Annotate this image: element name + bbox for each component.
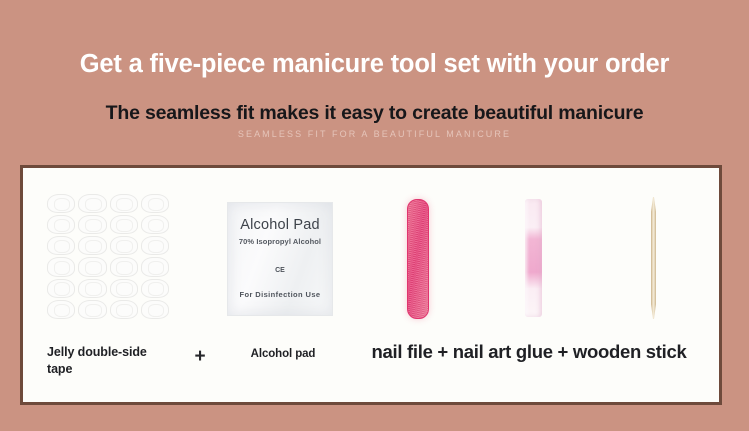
tape-tab (110, 194, 138, 213)
nail-art-glue-shape (525, 199, 542, 317)
tape-tab (110, 300, 138, 319)
tape-tab (47, 257, 75, 276)
ce-mark-icon: CE (228, 267, 332, 274)
alcohol-pad-packet-title: Alcohol Pad (228, 217, 332, 233)
wooden-stick-shape (651, 197, 656, 319)
tape-tab (47, 194, 75, 213)
tape-tab (47, 300, 75, 319)
alcohol-pad-image: Alcohol Pad 70% Isopropyl Alcohol CE For… (213, 168, 353, 336)
tape-tab (110, 215, 138, 234)
tape-tab (47, 236, 75, 255)
alcohol-pad-packet-usage: For Disinfection Use (228, 290, 332, 299)
subheadline: The seamless fit makes it easy to create… (0, 103, 749, 124)
product-images-row: Alcohol Pad 70% Isopropyl Alcohol CE For… (23, 168, 719, 336)
nail-art-glue-image (483, 168, 583, 336)
product-panel-inner: Alcohol Pad 70% Isopropyl Alcohol CE For… (23, 168, 719, 402)
tape-tab (141, 236, 169, 255)
caption-tools-list: nail file + nail art glue + wooden stick (343, 341, 715, 363)
wooden-stick-image (598, 168, 708, 336)
tape-tab (141, 279, 169, 298)
tape-tab (141, 194, 169, 213)
tape-tab (141, 215, 169, 234)
tape-sheet-grid (47, 194, 169, 319)
product-panel: Alcohol Pad 70% Isopropyl Alcohol CE For… (20, 165, 722, 405)
alcohol-pad-packet-subtitle: 70% Isopropyl Alcohol (228, 237, 332, 246)
page-title: Get a five-piece manicure tool set with … (0, 50, 749, 78)
tape-tab (141, 257, 169, 276)
tape-tab (110, 236, 138, 255)
tape-tab (78, 257, 106, 276)
nail-file-image (368, 168, 468, 336)
tape-tab (47, 279, 75, 298)
jelly-double-side-tape-image (47, 168, 177, 336)
promo-banner: Get a five-piece manicure tool set with … (0, 0, 749, 431)
tape-tab (110, 279, 138, 298)
tape-tab (78, 215, 106, 234)
tape-tab (78, 194, 106, 213)
tape-tab (78, 300, 106, 319)
tape-tab (78, 236, 106, 255)
nail-file-shape (407, 199, 429, 319)
alcohol-pad-packet: Alcohol Pad 70% Isopropyl Alcohol CE For… (227, 202, 333, 316)
tape-tab (47, 215, 75, 234)
tape-tab (78, 279, 106, 298)
tape-tab (110, 257, 138, 276)
caption-alcohol-pad: Alcohol pad (213, 348, 353, 360)
product-captions-row: Jelly double-side tape + Alcohol pad nai… (23, 336, 719, 402)
plus-separator: + (187, 346, 213, 368)
caption-jelly-double-side-tape: Jelly double-side tape (47, 344, 165, 377)
tape-tab (141, 300, 169, 319)
eyebrow-text: SEAMLESS FIT FOR A BEAUTIFUL MANICURE (0, 130, 749, 140)
